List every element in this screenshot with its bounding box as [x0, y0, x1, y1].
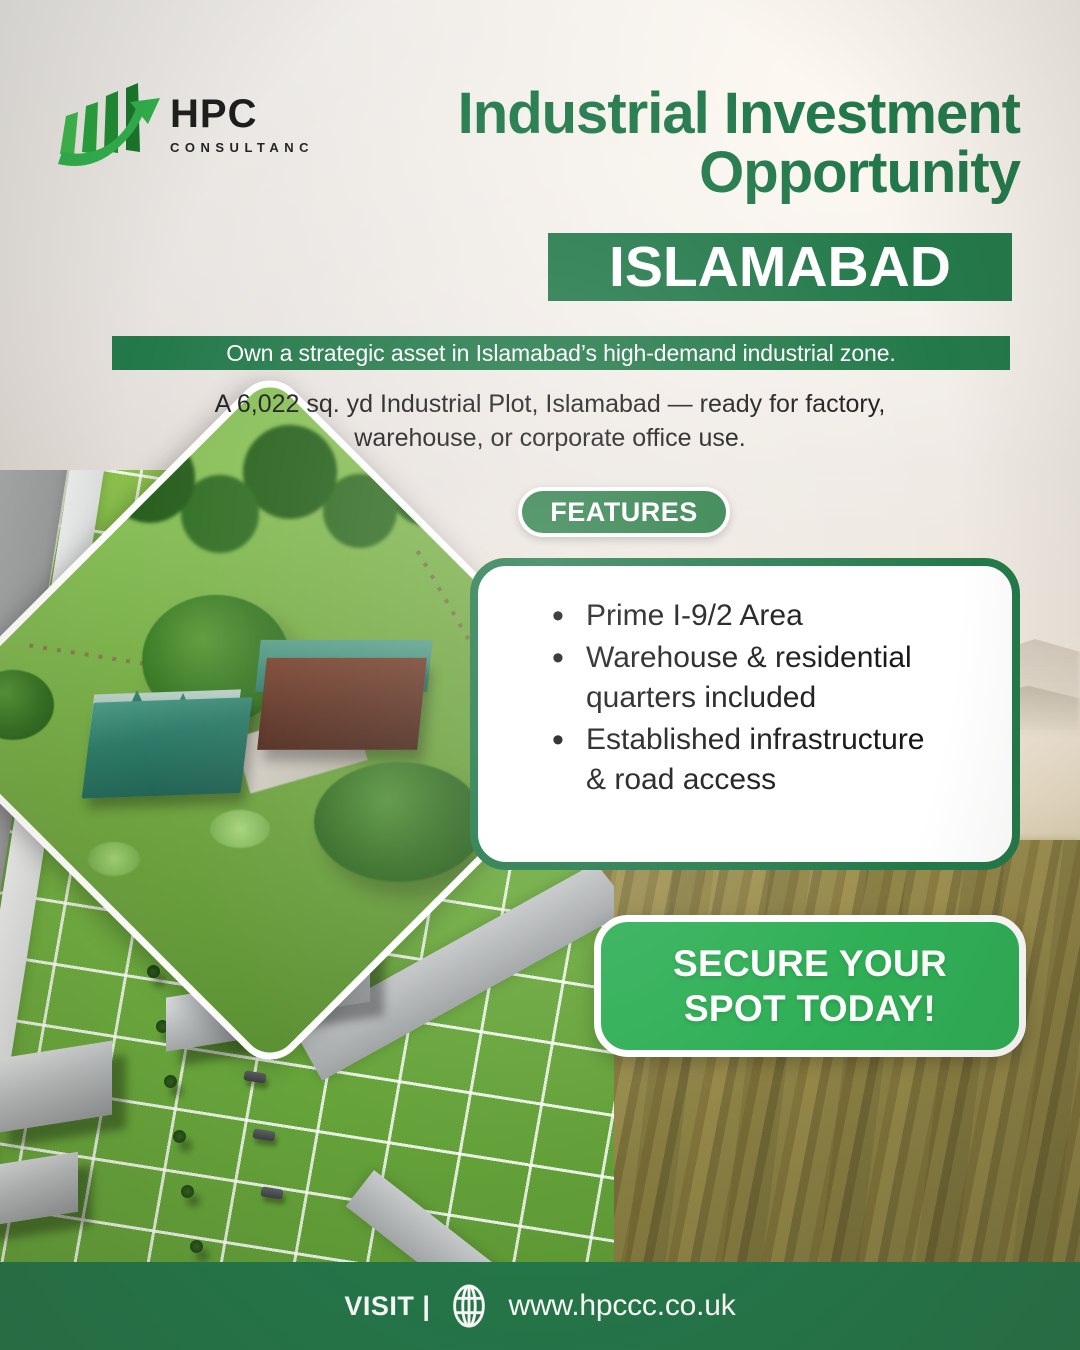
palm-tree-icon	[181, 1185, 194, 1198]
photo-house	[82, 697, 253, 798]
palm-tree-icon	[147, 965, 160, 978]
headline-line-2: Opportunity	[200, 143, 1020, 202]
growth-chart-logo-icon	[52, 76, 162, 172]
city-banner-label: ISLAMABAD	[609, 239, 951, 296]
list-item: Established infrastructure & road access	[552, 720, 952, 800]
footer-visit-label: VISIT |	[344, 1291, 430, 1322]
palm-tree-icon	[173, 1130, 186, 1143]
photo-tree	[0, 670, 54, 740]
palm-tree-icon	[190, 1240, 203, 1253]
headline-line-1: Industrial Investment	[200, 84, 1020, 143]
list-item: Warehouse & residential quarters include…	[552, 638, 952, 718]
photo-bush	[210, 810, 270, 848]
photo-tree	[314, 762, 484, 882]
description-text: A 6,022 sq. yd Industrial Plot, Islamaba…	[150, 388, 950, 456]
photo-bush	[88, 842, 140, 876]
list-item: Prime I-9/2 Area	[552, 596, 952, 636]
cta-button-label: SECURE YOUR SPOT TODAY!	[601, 941, 1019, 1031]
globe-icon	[446, 1283, 492, 1329]
features-card: Prime I-9/2 Area Warehouse & residential…	[470, 558, 1020, 870]
footer-website-link[interactable]: www.hpccc.co.uk	[508, 1289, 735, 1323]
tagline-text: Own a strategic asset in Islamabad’s hig…	[226, 340, 895, 367]
photo-barn	[257, 658, 427, 750]
tagline-band: Own a strategic asset in Islamabad’s hig…	[112, 336, 1010, 370]
palm-tree-icon	[164, 1075, 177, 1088]
cta-button[interactable]: SECURE YOUR SPOT TODAY!	[594, 915, 1026, 1057]
page-title: Industrial Investment Opportunity	[200, 84, 1020, 202]
poster-root: HPC CONSULTANC Industrial Investment Opp…	[0, 0, 1080, 1350]
features-badge-label: FEATURES	[550, 497, 698, 528]
features-list: Prime I-9/2 Area Warehouse & residential…	[552, 596, 1012, 799]
city-banner: ISLAMABAD	[548, 233, 1012, 301]
footer-bar: VISIT | www.hpccc.co.uk	[0, 1262, 1080, 1350]
features-badge: FEATURES	[518, 487, 730, 537]
